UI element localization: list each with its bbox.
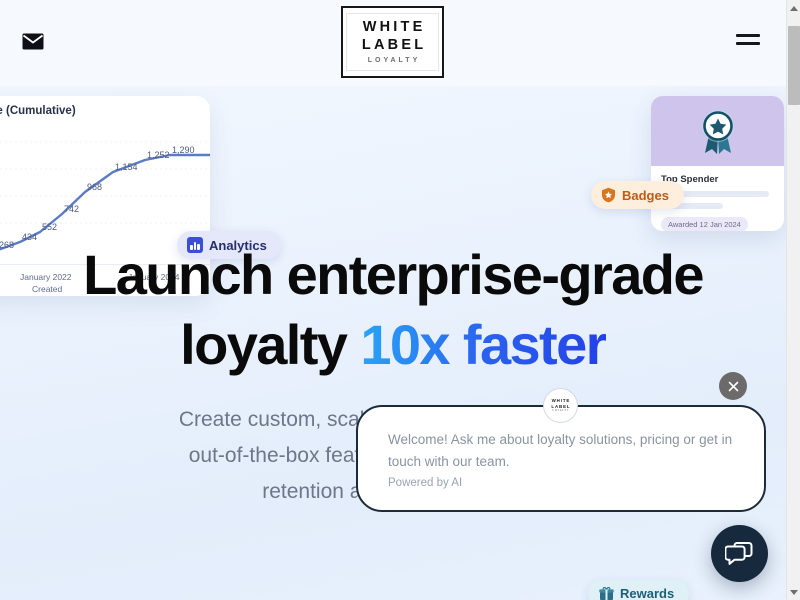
- scroll-down-arrow-icon[interactable]: [787, 584, 800, 600]
- gift-icon: [599, 586, 614, 600]
- page-title: Launch enterprise-grade loyalty 10x fast…: [0, 240, 786, 380]
- logo-line-3: LOYALTY: [365, 57, 421, 64]
- site-header: WHITE LABEL LOYALTY: [0, 0, 786, 86]
- scrollbar-thumb[interactable]: [788, 26, 800, 105]
- rewards-pill[interactable]: Rewards: [588, 580, 689, 600]
- chat-avatar-line-3: LOYALTY: [552, 409, 569, 413]
- chart-title: Members over time (Cumulative): [0, 105, 76, 117]
- hamburger-bar-1: [736, 34, 760, 37]
- scroll-up-arrow-icon[interactable]: [787, 0, 800, 16]
- chat-welcome-message: Welcome! Ask me about loyalty solutions,…: [388, 429, 738, 473]
- hero-title-line-2: loyalty: [180, 313, 360, 376]
- vertical-scrollbar[interactable]: [786, 0, 800, 600]
- chat-bubbles-icon: [725, 540, 754, 567]
- mail-icon[interactable]: [22, 33, 44, 50]
- hamburger-menu-icon[interactable]: [736, 34, 760, 50]
- logo-line-2: LABEL: [359, 38, 427, 53]
- badge-awarded-chip: Awarded 12 Jan 2024: [661, 217, 748, 231]
- shield-icon: [601, 187, 616, 203]
- badge-card: Top Spender Awarded 12 Jan 2024: [651, 96, 784, 231]
- close-icon: [727, 380, 740, 393]
- hamburger-bar-2: [736, 42, 760, 45]
- chat-close-button[interactable]: [719, 372, 747, 400]
- chat-powered-by-label: Powered by AI: [388, 477, 738, 489]
- badges-pill[interactable]: Badges: [591, 181, 684, 209]
- page-root: WHITE LABEL LOYALTY Members over time (C…: [0, 0, 800, 600]
- badges-pill-label: Badges: [622, 188, 669, 203]
- site-logo[interactable]: WHITE LABEL LOYALTY: [341, 6, 444, 78]
- site-logo-inner: WHITE LABEL LOYALTY: [346, 13, 439, 71]
- rewards-pill-label: Rewards: [620, 586, 674, 600]
- hero-title-highlight: 10x faster: [360, 313, 606, 376]
- chat-launcher-button[interactable]: [711, 525, 768, 582]
- award-ribbon-icon: [692, 105, 744, 157]
- hero-title-line-1: Launch enterprise-grade: [83, 243, 703, 306]
- logo-line-1: WHITE: [360, 20, 426, 35]
- badge-card-artwork: [651, 96, 784, 166]
- chat-avatar: WHITE LABEL LOYALTY: [543, 388, 578, 423]
